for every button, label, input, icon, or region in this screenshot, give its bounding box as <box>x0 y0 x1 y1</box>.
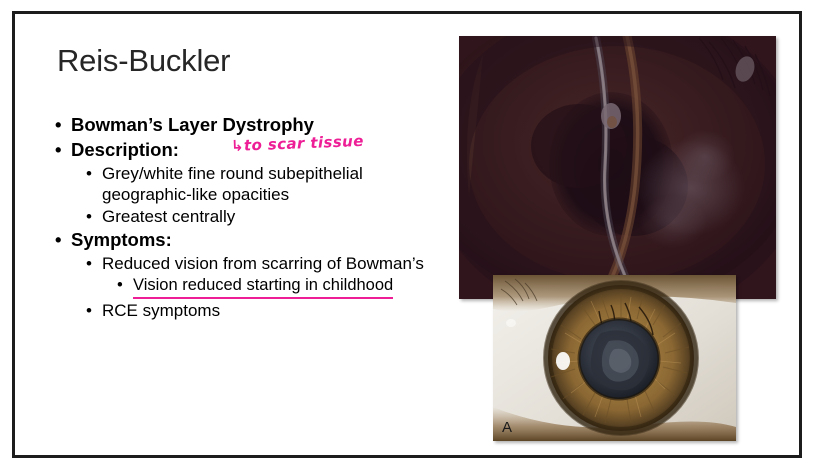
bullet-item: •Grey/white fine round subepithelial geo… <box>55 163 455 205</box>
slit-lamp-photo <box>459 36 776 299</box>
bullet-item: •Vision reduced starting in childhood <box>55 275 455 299</box>
bullet-text: Reduced vision from scarring of Bowman’s <box>102 253 455 274</box>
slit-lamp-photo-graphic <box>459 36 776 299</box>
page-title: Reis-Buckler <box>57 44 230 78</box>
bullet-marker-icon: • <box>55 137 61 162</box>
ink-underlined-text: Vision reduced starting in childhood <box>133 275 393 299</box>
slide-canvas: Reis-Buckler •Bowman’s Layer Dystrophy•D… <box>15 14 799 455</box>
bullet-item: •Bowman’s Layer Dystrophy <box>55 112 455 137</box>
bullet-text: Greatest centrally <box>102 206 455 227</box>
bullet-marker-icon: • <box>86 163 92 184</box>
bullet-marker-icon: • <box>117 275 123 296</box>
bullet-item: •RCE symptoms <box>55 300 455 321</box>
bullet-item: •Symptoms: <box>55 227 455 252</box>
slide-stage: Reis-Buckler •Bowman’s Layer Dystrophy•D… <box>0 0 814 472</box>
bullet-marker-icon: • <box>86 300 92 321</box>
bullet-marker-icon: • <box>55 112 61 137</box>
bullet-marker-icon: • <box>86 253 92 274</box>
iris-photo-graphic <box>493 275 736 441</box>
slide-frame: Reis-Buckler •Bowman’s Layer Dystrophy•D… <box>12 11 802 458</box>
bullet-text: Bowman’s Layer Dystrophy <box>71 112 455 137</box>
bullet-marker-icon: • <box>86 206 92 227</box>
bullet-item: •Greatest centrally <box>55 206 455 227</box>
bullet-text: Vision reduced starting in childhood <box>133 275 455 299</box>
bullet-text: RCE symptoms <box>102 300 455 321</box>
iris-photo-label: A <box>502 419 512 436</box>
iris-photo: A <box>493 275 736 441</box>
bullet-marker-icon: • <box>55 227 61 252</box>
bullet-text: Grey/white fine round subepithelial geog… <box>102 163 455 205</box>
bullet-text: Symptoms: <box>71 227 455 252</box>
bullet-item: •Reduced vision from scarring of Bowman’… <box>55 253 455 274</box>
